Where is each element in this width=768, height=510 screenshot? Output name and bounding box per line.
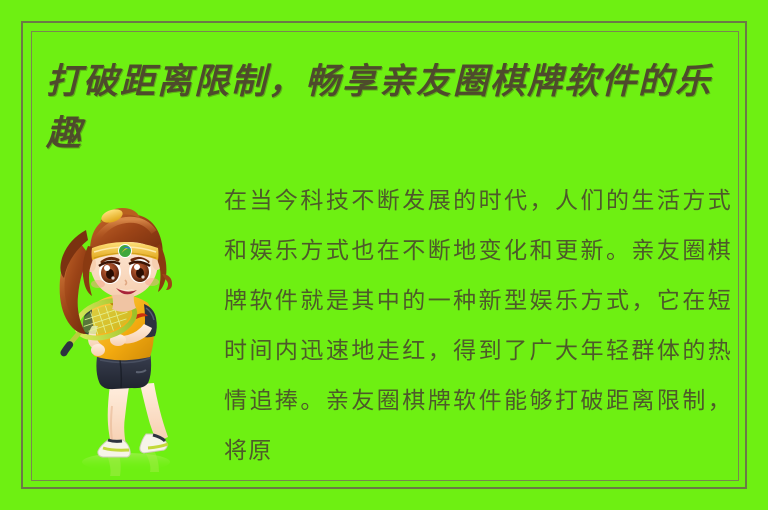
headband-emblem: [118, 244, 132, 258]
chibi-girl-svg: [48, 200, 218, 480]
title-block: 打破距离限制，畅享亲友圈棋牌软件的乐趣: [46, 56, 736, 160]
page-title: 打破距离限制，畅享亲友圈棋牌软件的乐趣: [46, 56, 736, 160]
character-illustration: [48, 200, 218, 480]
body-text-block: 在当今科技不断发展的时代，人们的生活方式和娱乐方式也在不断地变化和更新。亲友圈棋…: [224, 176, 732, 476]
poster-canvas: 打破距离限制，畅享亲友圈棋牌软件的乐趣 在当今科技不断发展的时代，人们的生活方式…: [0, 0, 768, 510]
article-paragraph: 在当今科技不断发展的时代，人们的生活方式和娱乐方式也在不断地变化和更新。亲友圈棋…: [224, 176, 732, 476]
head: [83, 207, 172, 312]
